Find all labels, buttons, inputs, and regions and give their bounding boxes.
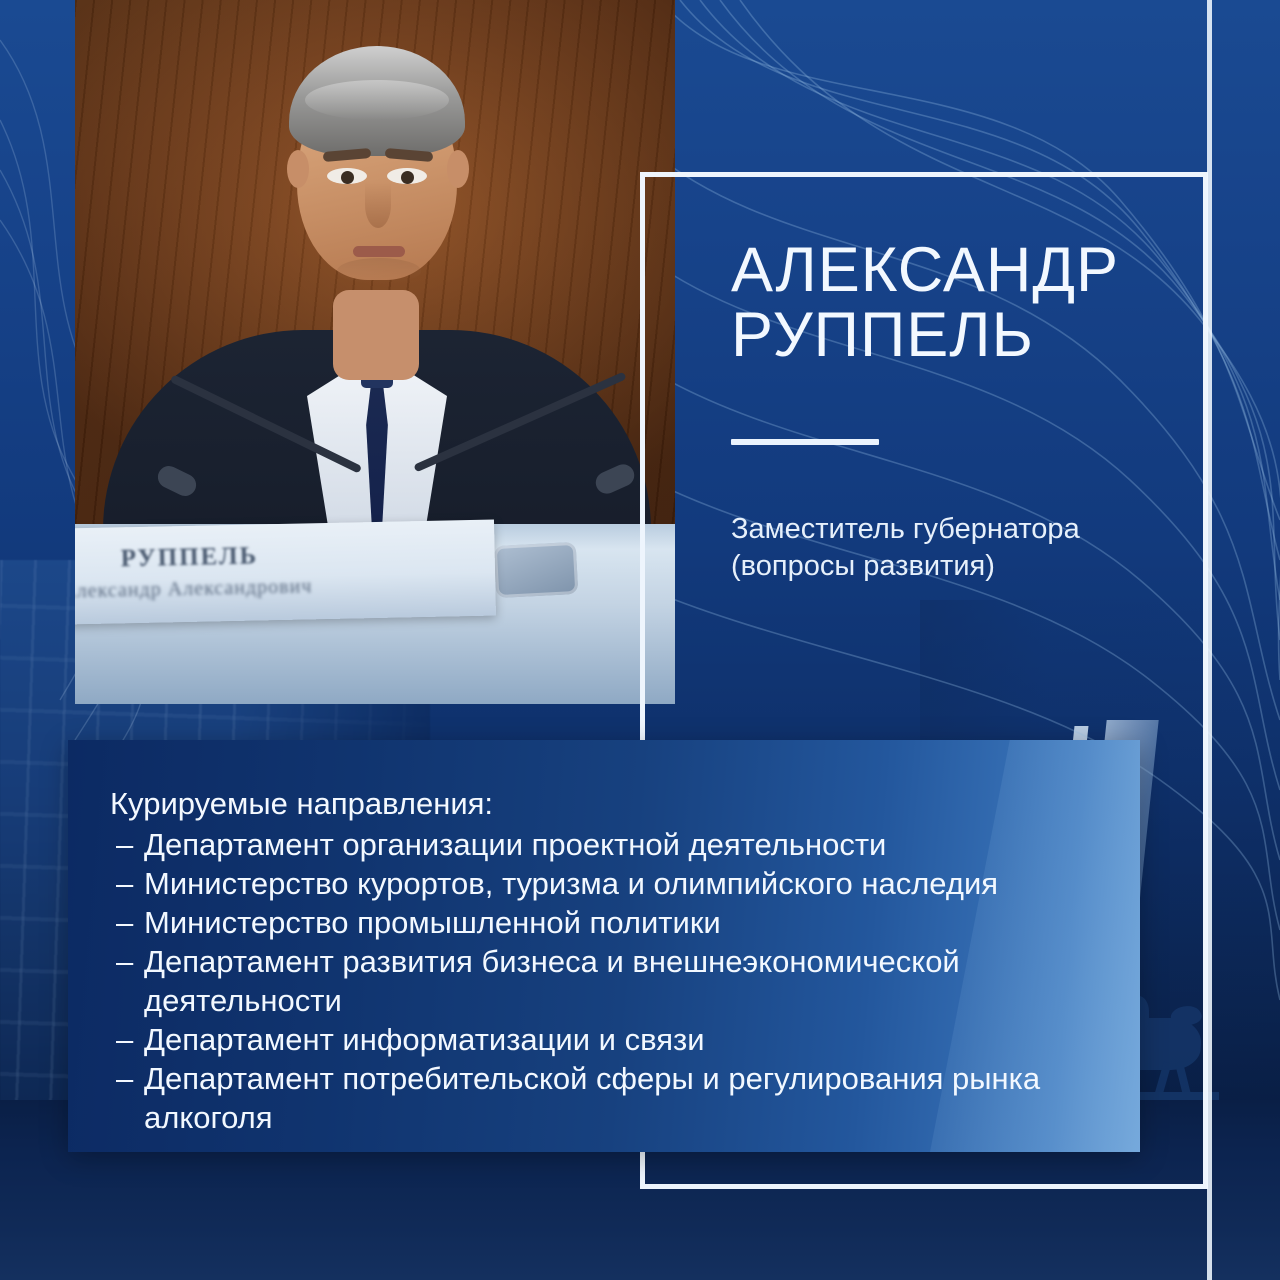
nameplate-surname: РУППЕЛЬ xyxy=(120,542,258,573)
list-item: Министерство курортов, туризма и олимпий… xyxy=(110,864,1100,903)
desk-nameplate: РУППЕЛЬ Александр Александрович xyxy=(75,520,496,625)
nose xyxy=(365,182,391,228)
pupil-left xyxy=(341,171,354,184)
neck xyxy=(333,290,419,380)
list-item: Министерство промышленной политики xyxy=(110,903,1100,942)
list-item: Департамент развития бизнеса и внешнеэко… xyxy=(110,942,1100,1020)
person-position: Заместитель губернатора (вопросы развити… xyxy=(731,511,1201,585)
person-name-line1: АЛЕКСАНДР xyxy=(731,238,1201,303)
chin-shadow xyxy=(337,258,421,284)
responsibilities-list: Департамент организации проектной деятел… xyxy=(110,825,1100,1137)
nameplate-fullname: Александр Александрович xyxy=(75,575,313,603)
person-name: АЛЕКСАНДР РУППЕЛЬ xyxy=(731,238,1201,368)
person-position-line1: Заместитель губернатора xyxy=(731,511,1201,548)
list-item: Департамент организации проектной деятел… xyxy=(110,825,1100,864)
pupil-right xyxy=(401,171,414,184)
responsibilities-panel: Курируемые направления: Департамент орга… xyxy=(68,740,1140,1152)
title-divider xyxy=(731,439,879,445)
slide-card: РУППЕЛЬ Александр Александрович АЛЕКСАНД… xyxy=(0,0,1280,1280)
list-item: Департамент потребительской сферы и регу… xyxy=(110,1059,1100,1137)
person-name-line2: РУППЕЛЬ xyxy=(731,303,1201,368)
hair xyxy=(289,46,465,156)
ear-left xyxy=(287,150,309,188)
list-item: Департамент информатизации и связи xyxy=(110,1020,1100,1059)
portrait-photo: РУППЕЛЬ Александр Александрович xyxy=(75,0,675,704)
responsibilities-heading: Курируемые направления: xyxy=(110,784,1100,823)
person-position-line2: (вопросы развития) xyxy=(731,548,1201,585)
ear-right xyxy=(447,150,469,188)
device-on-desk xyxy=(494,542,579,598)
mouth xyxy=(353,246,405,257)
right-vertical-rule xyxy=(1207,0,1212,1280)
